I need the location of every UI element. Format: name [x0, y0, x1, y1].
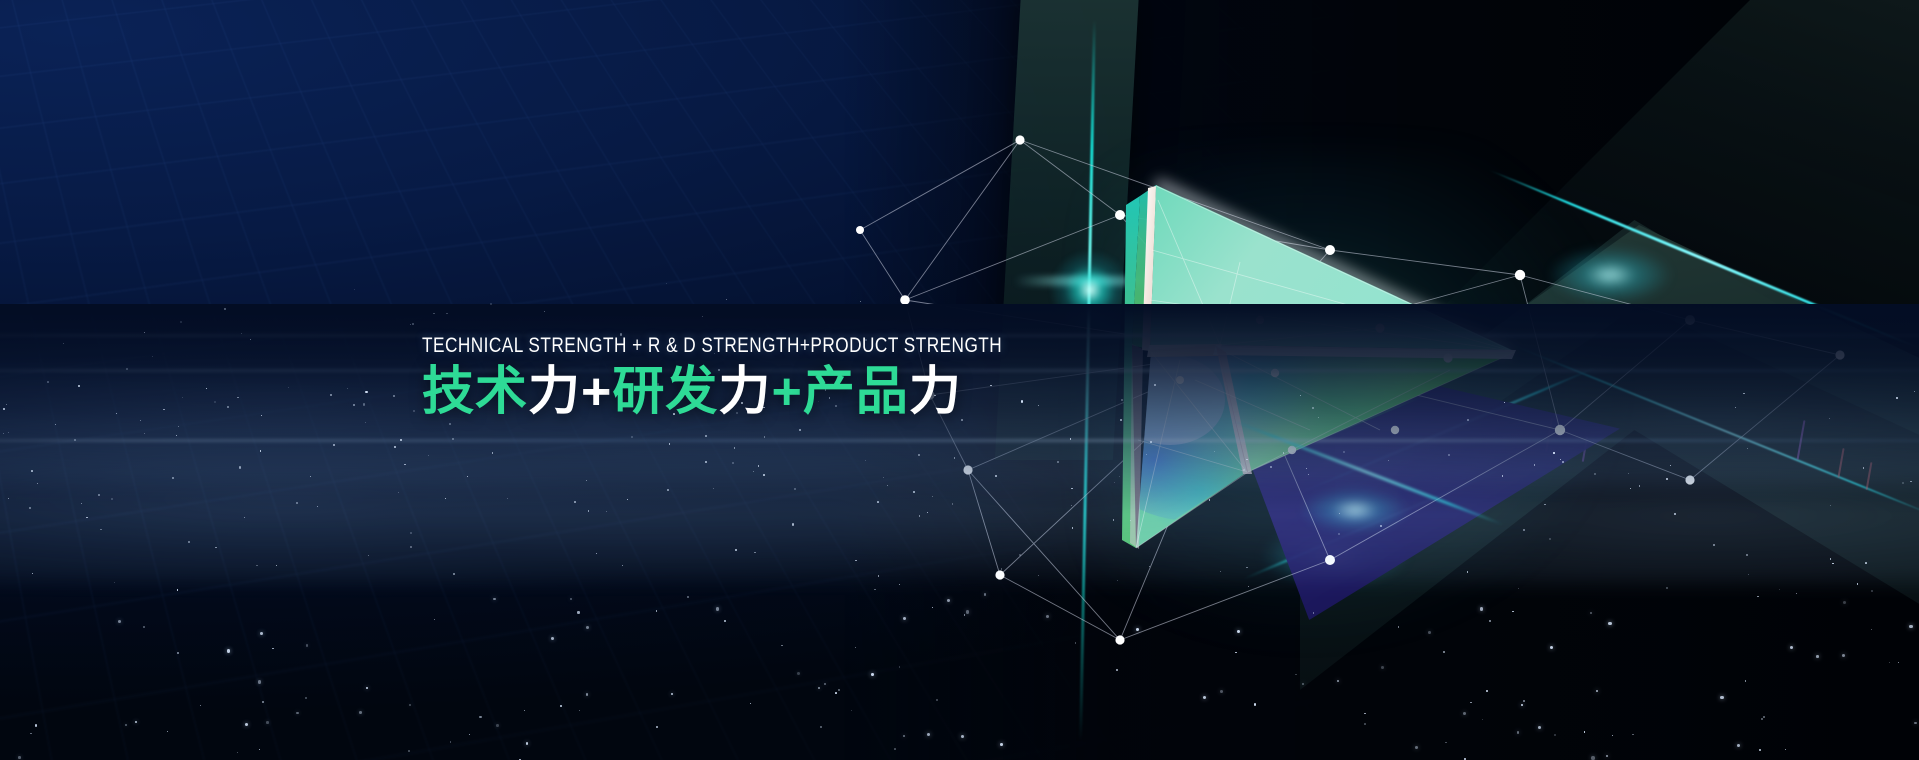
page-title: 技术力+研发力+产品力 — [422, 365, 1062, 420]
mesh-crest-line — [0, 439, 1919, 442]
headline-kicker: TECHNICAL STRENGTH + R & D STRENGTH+PROD… — [422, 334, 934, 358]
title-segment: 研发 — [612, 363, 718, 421]
hero-banner: TECHNICAL STRENGTH + R & D STRENGTH+PROD… — [0, 0, 1919, 760]
title-segment: 力 — [528, 363, 581, 421]
title-segment: 产品 — [803, 363, 909, 421]
title-segment: + — [771, 363, 802, 421]
title-segment: 技术 — [422, 363, 528, 421]
title-segment: 力 — [909, 363, 962, 421]
title-segment: 力 — [718, 363, 771, 421]
title-segment: + — [581, 363, 612, 421]
headline-block: TECHNICAL STRENGTH + R & D STRENGTH+PROD… — [422, 334, 1062, 420]
